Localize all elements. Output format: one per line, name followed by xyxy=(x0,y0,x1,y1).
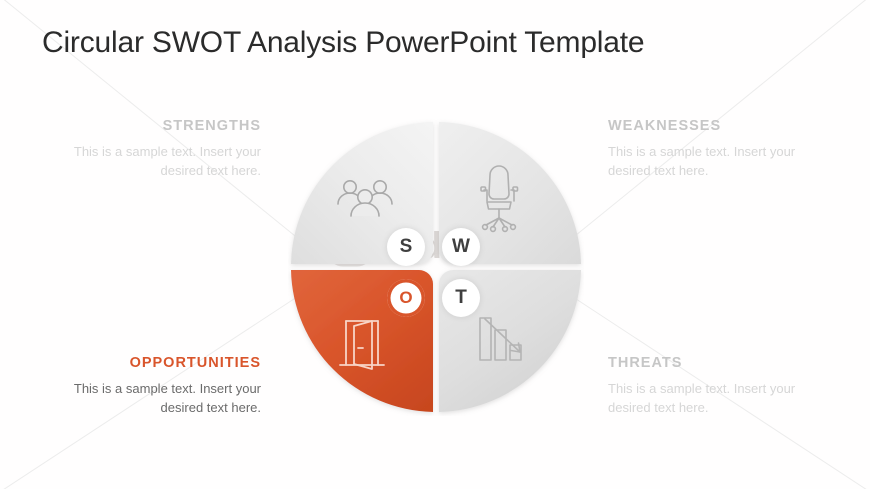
quadrant-body-weaknesses: This is a sample text. Insert your desir… xyxy=(608,143,823,181)
quadrant-text-weaknesses[interactable]: WEAKNESSES This is a sample text. Insert… xyxy=(608,118,823,181)
swot-circle-diagram xyxy=(288,118,584,416)
page-title: Circular SWOT Analysis PowerPoint Templa… xyxy=(42,26,644,60)
quadrant-body-strengths: This is a sample text. Insert your desir… xyxy=(46,143,261,181)
letter-badge-o-label: O xyxy=(399,288,412,308)
slide-canvas: Circular SWOT Analysis PowerPoint Templa… xyxy=(0,0,870,489)
quadrant-text-strengths[interactable]: STRENGTHS This is a sample text. Insert … xyxy=(46,118,261,181)
letter-badge-t-label: T xyxy=(455,287,467,309)
quadrant-heading-weaknesses: WEAKNESSES xyxy=(608,118,823,135)
quadrant-heading-strengths: STRENGTHS xyxy=(46,118,261,135)
letter-badge-o[interactable]: O xyxy=(387,279,425,317)
quadrant-heading-threats: THREATS xyxy=(608,355,823,372)
quadrant-heading-opportunities: OPPORTUNITIES xyxy=(46,355,261,372)
quadrant-text-threats[interactable]: THREATS This is a sample text. Insert yo… xyxy=(608,355,823,418)
quadrant-body-threats: This is a sample text. Insert your desir… xyxy=(608,380,823,418)
letter-badge-t[interactable]: T xyxy=(442,279,480,317)
letter-badge-w[interactable]: W xyxy=(442,228,480,266)
letter-badge-s-label: S xyxy=(400,236,413,258)
quadrant-text-opportunities[interactable]: OPPORTUNITIES This is a sample text. Ins… xyxy=(46,355,261,418)
letter-badge-w-label: W xyxy=(452,236,470,258)
letter-badge-s[interactable]: S xyxy=(387,228,425,266)
quadrant-body-opportunities: This is a sample text. Insert your desir… xyxy=(46,380,261,418)
